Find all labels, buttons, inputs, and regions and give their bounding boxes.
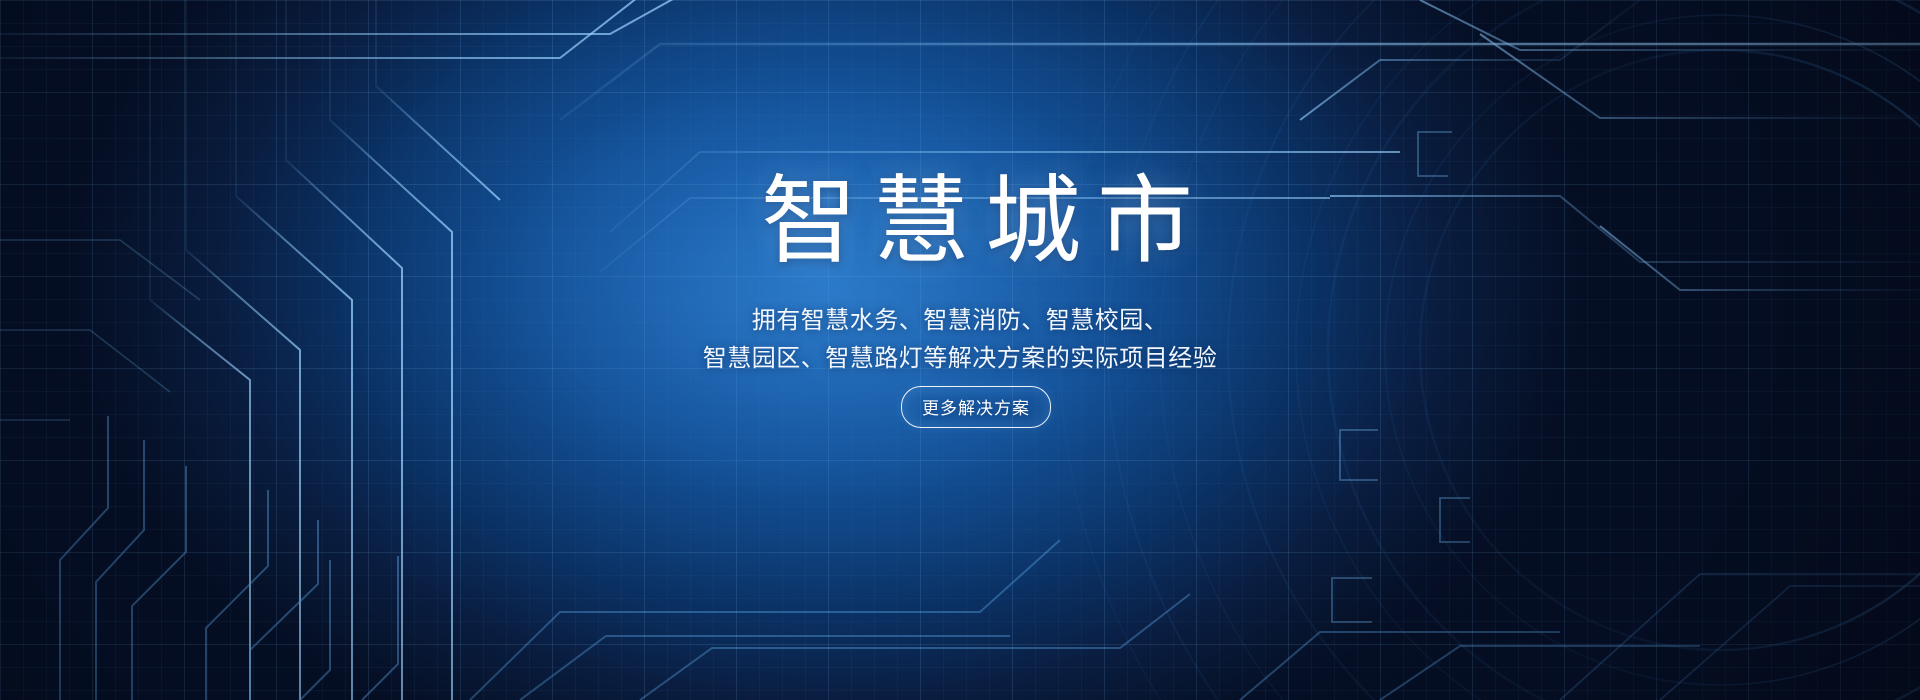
- subtitle-line-1: 拥有智慧水务、智慧消防、智慧校园、: [0, 300, 1920, 335]
- banner-content: 智慧城市 拥有智慧水务、智慧消防、智慧校园、 智慧园区、智慧路灯等解决方案的实际…: [0, 0, 1920, 700]
- cta-container: 更多解决方案: [0, 386, 1920, 428]
- page-title: 智慧城市: [0, 168, 1920, 276]
- more-solutions-button[interactable]: 更多解决方案: [901, 386, 1051, 428]
- subtitle-line-2: 智慧园区、智慧路灯等解决方案的实际项目经验: [0, 338, 1920, 373]
- smart-city-hero-banner: 智慧城市 拥有智慧水务、智慧消防、智慧校园、 智慧园区、智慧路灯等解决方案的实际…: [0, 0, 1920, 700]
